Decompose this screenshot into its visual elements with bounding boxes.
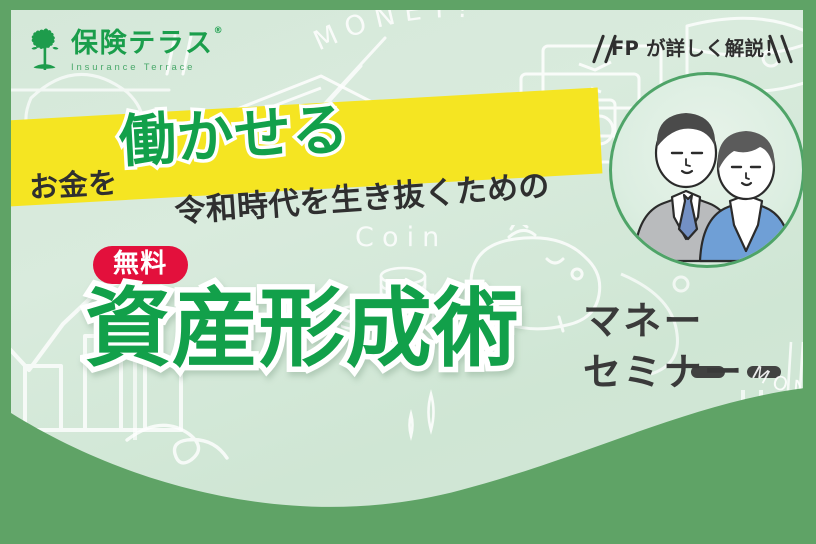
brand-name-text: 保険テラス bbox=[71, 28, 214, 59]
headline-emphasis: 働かせる bbox=[118, 102, 351, 172]
seminar-banner: MONEY! bbox=[0, 0, 816, 544]
sparkle-diamond-decoration bbox=[397, 386, 477, 456]
tree-icon bbox=[25, 26, 65, 72]
registered-mark: ® bbox=[214, 26, 225, 36]
coin-text-decoration: Coin bbox=[355, 222, 447, 253]
headline-lead: お金を bbox=[28, 160, 119, 207]
main-title: 資産形成術 bbox=[85, 286, 519, 372]
mone-text-decoration: MONE bbox=[747, 358, 803, 428]
couple-illustration-icon bbox=[612, 75, 802, 265]
fp-ribbon: FP が詳しく解説！ bbox=[573, 28, 803, 72]
ribbon-slash-left-1 bbox=[592, 34, 605, 63]
fp-ribbon-text: FP が詳しく解説！ bbox=[611, 32, 769, 61]
sub-title-line1: マネー bbox=[583, 296, 744, 347]
sub-title: マネー セミナー bbox=[583, 296, 744, 398]
brand-tagline: Insurance Terrace bbox=[71, 62, 224, 73]
brand-text-block: 保険テラス® Insurance Terrace bbox=[71, 30, 224, 73]
brand-name: 保険テラス® bbox=[71, 30, 224, 57]
ribbon-swirl-decoration bbox=[121, 410, 251, 500]
svg-text:MONE: MONE bbox=[748, 362, 803, 400]
sub-title-line2: セミナー bbox=[583, 347, 744, 398]
money-text-decoration: MONEY! bbox=[311, 10, 571, 68]
stairs-decoration bbox=[611, 390, 803, 520]
svg-text:MONEY!: MONEY! bbox=[311, 10, 478, 57]
banner-inner-panel: MONEY! bbox=[11, 10, 803, 544]
couple-portrait bbox=[609, 72, 803, 268]
brand-logo[interactable]: 保険テラス® Insurance Terrace bbox=[25, 26, 224, 73]
